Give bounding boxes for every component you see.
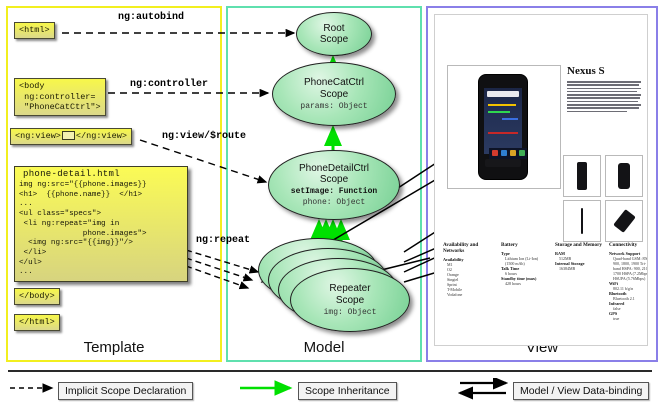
spec-column-availability: Availability andNetworks Availability M1… xyxy=(443,243,491,297)
spec-column-connectivity: Connectivity Network Support Quad-band G… xyxy=(609,243,648,321)
rendered-view-page: Nexus S Availability andNetwor xyxy=(434,14,648,346)
scope-phonecatctrl-title: PhoneCatCtrlScope xyxy=(304,77,364,99)
screen-line-4 xyxy=(488,132,518,134)
app-icon-4 xyxy=(519,150,525,156)
scope-repeater: RepeaterScope img: Object xyxy=(290,268,410,332)
scope-root: RootScope xyxy=(296,12,372,56)
tag-html: <html> xyxy=(14,22,55,39)
legend-divider xyxy=(8,370,652,372)
phone-hero-image xyxy=(478,74,528,180)
spec-values: true xyxy=(609,316,648,321)
spec-heading: Battery xyxy=(501,243,549,249)
tag-body: <body ng:controller= "PhoneCatCtrl"> xyxy=(14,78,106,116)
scope-phonecatctrl: PhoneCatCtrlScope params: Object xyxy=(272,62,396,126)
panel-model-label: Model xyxy=(228,339,420,356)
app-icon-1 xyxy=(492,150,498,156)
app-icon-3 xyxy=(510,150,516,156)
label-ng-autobind: ng:autobind xyxy=(118,12,184,23)
ngview-close-tag: </ng:view> xyxy=(76,131,127,141)
spec-heading: Availability andNetworks xyxy=(443,243,491,255)
tag-close-html: </html> xyxy=(14,314,60,331)
ngview-open-tag: <ng:view> xyxy=(15,131,61,141)
scope-phonedetailctrl: PhoneDetailCtrlScope setImage: Function … xyxy=(268,150,400,220)
phone-app-dock xyxy=(489,148,527,159)
page-title: Nexus S xyxy=(567,65,605,77)
legend-label-implicit-scope: Implicit Scope Declaration xyxy=(58,382,193,400)
ngview-slot-icon xyxy=(62,131,75,140)
scope-phonecatctrl-prop-params: params: Object xyxy=(300,102,367,111)
thumbnail-phone-front[interactable] xyxy=(563,155,601,197)
tag-ngview: <ng:view></ng:view> xyxy=(10,128,132,145)
spec-heading: Storage and Memory xyxy=(555,243,607,249)
scope-repeater-title: RepeaterScope xyxy=(329,283,370,305)
scope-phonedetailctrl-title: PhoneDetailCtrlScope xyxy=(299,163,369,185)
product-description xyxy=(567,81,641,114)
spec-values: Lithium Ion (Li-Ion)(1500 mAh) xyxy=(501,256,549,266)
code-card-filename: phone-detail.html xyxy=(15,167,187,180)
app-icon-2 xyxy=(501,150,507,156)
screen-line-3 xyxy=(502,118,518,120)
tag-close-body: </body> xyxy=(14,288,60,305)
legend-label-data-binding: Model / View Data-binding xyxy=(513,382,649,400)
scope-phonedetailctrl-prop-phone: phone: Object xyxy=(303,198,365,207)
scope-phonedetailctrl-prop-setimage: setImage: Function xyxy=(291,187,377,196)
spec-values: M1O2OrangeSingtelSprintT-MobileVodafone xyxy=(443,262,491,297)
code-card-phone-detail: phone-detail.html img ng:src="{{phone.im… xyxy=(14,166,188,282)
hero-image-frame xyxy=(447,65,561,189)
thumbnail-phone-angled[interactable] xyxy=(605,200,643,242)
phone-nav-buttons xyxy=(485,159,521,167)
phone-search-bar xyxy=(487,91,519,97)
spec-values: 16384MB xyxy=(555,266,607,271)
spec-column-battery: Battery Type Lithium Ion (Li-Ion)(1500 m… xyxy=(501,243,549,286)
screen-line-1 xyxy=(488,104,516,106)
label-ng-controller: ng:controller xyxy=(130,79,208,90)
code-card-source: img ng:src="{{phone.images}} <h1> {{phon… xyxy=(15,180,187,281)
screen-line-2 xyxy=(488,111,510,113)
legend: Implicit Scope Declaration Scope Inherit… xyxy=(0,368,660,420)
diagram-canvas: Template Model View xyxy=(0,0,660,420)
scope-repeater-prop-img: img: Object xyxy=(324,308,377,317)
spec-values: 428 hours xyxy=(501,281,549,286)
label-ng-view-route: ng:view/$route xyxy=(162,131,246,142)
thumbnail-phone-back[interactable] xyxy=(605,155,643,197)
phone-screen xyxy=(484,88,522,154)
spec-values: Quad-band GSM: 850,900, 1800, 1900 Tri-b… xyxy=(609,256,648,281)
label-ng-repeat: ng:repeat xyxy=(196,235,250,246)
spec-column-storage: Storage and Memory RAM 512MB Internal St… xyxy=(555,243,607,271)
scope-root-title: RootScope xyxy=(320,23,348,45)
thumbnail-phone-edge[interactable] xyxy=(563,200,601,242)
spec-heading: Connectivity xyxy=(609,243,648,249)
legend-label-scope-inheritance: Scope Inheritance xyxy=(298,382,397,400)
panel-template-label: Template xyxy=(8,339,220,356)
